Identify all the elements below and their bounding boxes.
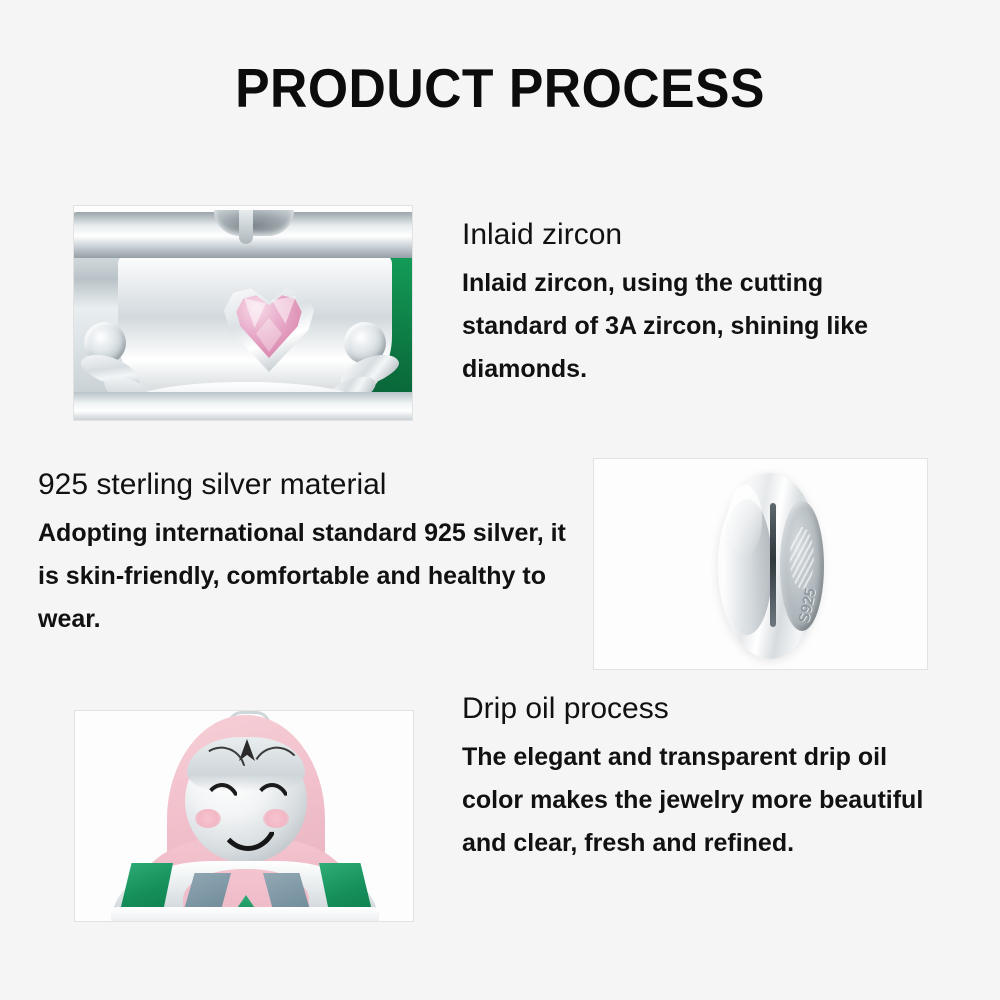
section-body-drip-oil-process: The elegant and transparent drip oil col… bbox=[462, 736, 927, 865]
bead-hole-notch bbox=[239, 210, 253, 244]
section-inlaid-zircon-text: Inlaid zircon Inlaid zircon, using the c… bbox=[462, 220, 917, 391]
matryoshka-doll-charm-image bbox=[74, 710, 414, 922]
silver-spacer-ring-image: S925 bbox=[593, 458, 928, 670]
doll-base-highlight bbox=[111, 907, 379, 921]
section-body-inlaid-zircon: Inlaid zircon, using the cutting standar… bbox=[462, 262, 917, 391]
section-925-sterling-silver-text: 925 sterling silver material Adopting in… bbox=[38, 470, 583, 641]
ring-edge-shadow-line bbox=[770, 503, 776, 627]
page-title: PRODUCT PROCESS bbox=[30, 56, 970, 120]
section-heading-925-sterling-silver: 925 sterling silver material bbox=[38, 470, 583, 500]
section-body-925-sterling-silver: Adopting international standard 925 silv… bbox=[38, 512, 583, 641]
section-heading-drip-oil-process: Drip oil process bbox=[462, 694, 927, 724]
ring-photo-canvas: S925 bbox=[594, 459, 927, 669]
bead-photo-canvas bbox=[74, 206, 412, 420]
ring-bore-texture bbox=[790, 527, 814, 589]
bead-bottom-rim bbox=[74, 392, 412, 420]
doll-photo-canvas bbox=[75, 711, 413, 921]
section-drip-oil-process-text: Drip oil process The elegant and transpa… bbox=[462, 694, 927, 865]
ring-gloss-highlight bbox=[728, 485, 762, 555]
product-process-infographic: PRODUCT PROCESS In bbox=[0, 0, 1000, 1000]
section-heading-inlaid-zircon: Inlaid zircon bbox=[462, 220, 917, 250]
charm-bead-with-pink-heart-zircon-image bbox=[73, 205, 413, 421]
